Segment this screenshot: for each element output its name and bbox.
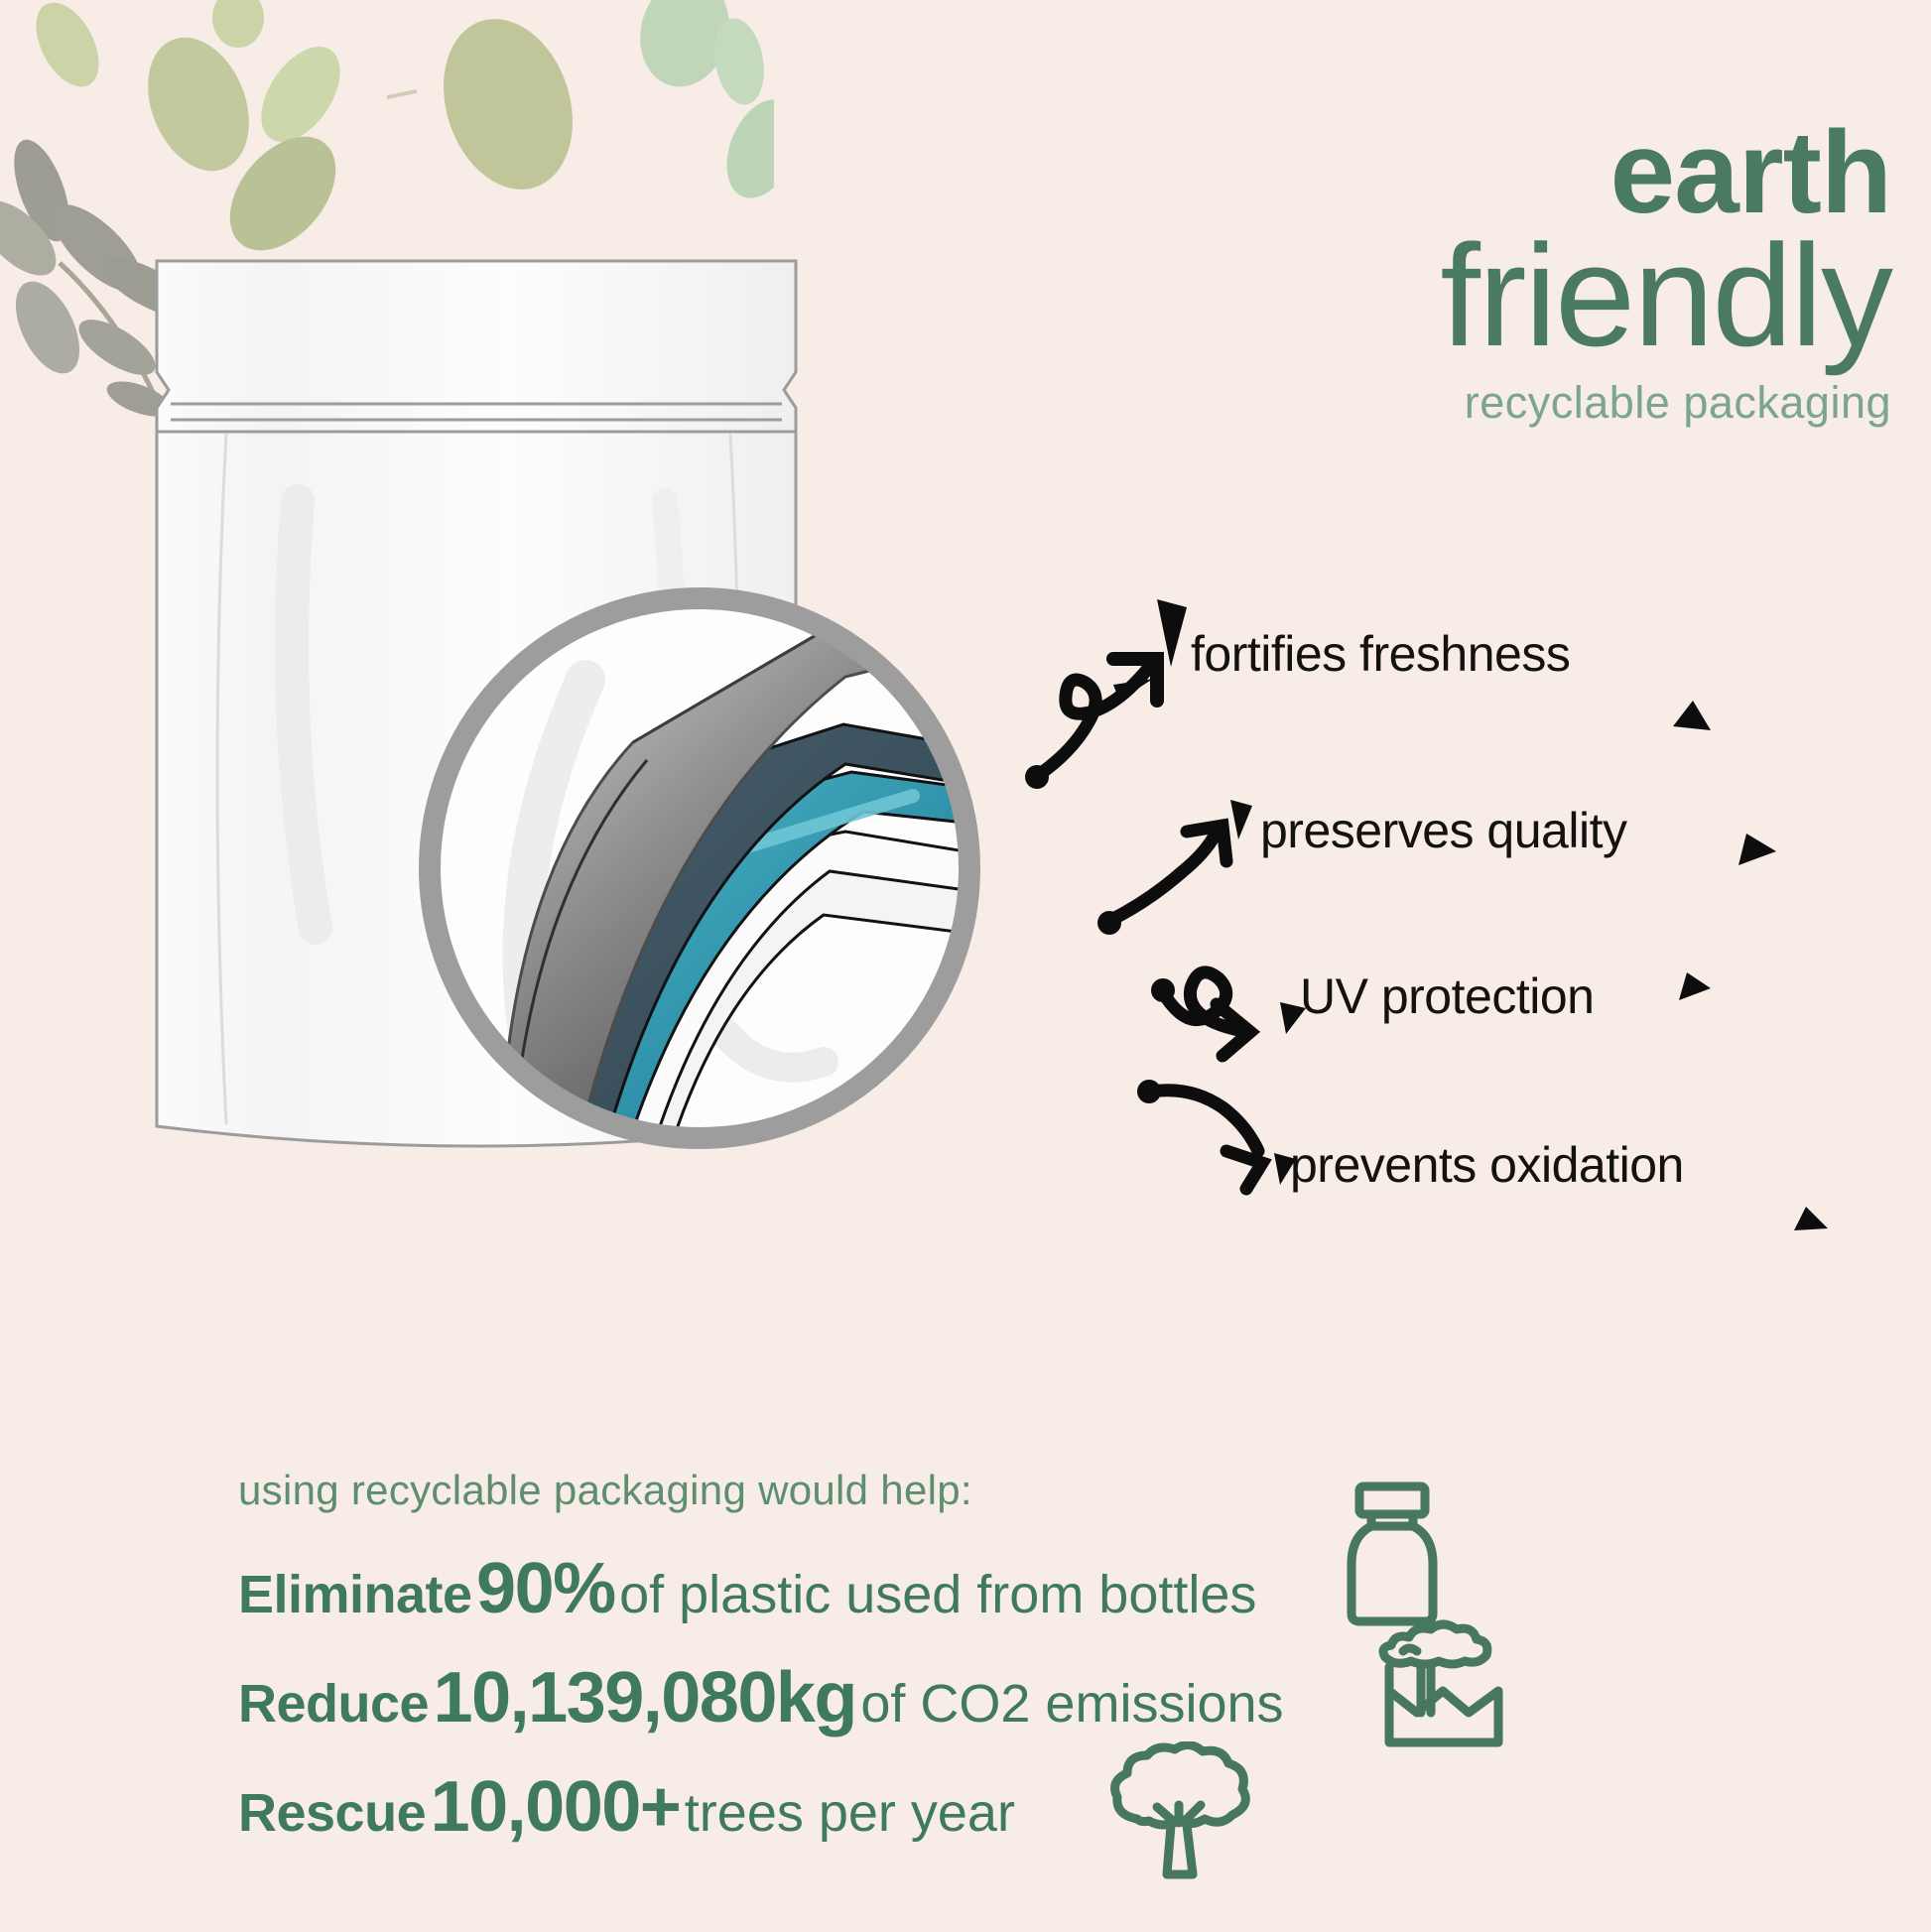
factory-icon: [1369, 1617, 1518, 1756]
factory-smoke-puff: [1403, 1648, 1417, 1651]
leaf-icon: [245, 33, 356, 156]
headline-line-friendly: friendly: [919, 227, 1891, 363]
callout-anchor-dot: [1097, 911, 1121, 935]
leaf-icon: [208, 116, 356, 270]
callout-anchor-dot: [1025, 765, 1049, 789]
sparkle-icon: [1113, 679, 1153, 701]
leaf-icon: [23, 0, 111, 97]
leaf-stem: [387, 91, 417, 97]
looped-arrow-head: [1217, 1004, 1250, 1056]
bottle-body: [1352, 1526, 1433, 1621]
tree-icon: [1101, 1741, 1260, 1890]
bottle-icon: [1330, 1479, 1459, 1627]
feature-label-fortifies-freshness: fortifies freshness: [1191, 625, 1570, 683]
page-title-block: earth friendly recyclable packaging: [919, 119, 1891, 429]
curly-arrow-head: [1113, 659, 1157, 701]
looped-arrow-icon: [1163, 972, 1238, 1030]
stat-verb: Eliminate: [238, 1565, 472, 1624]
pouch-top-panel: [157, 261, 796, 432]
curved-arrow-head: [1187, 826, 1226, 861]
bottle-cap: [1359, 1486, 1425, 1514]
feature-label-preserves-quality: preserves quality: [1260, 802, 1626, 859]
leaf-icon: [713, 89, 774, 208]
infographic-canvas: earth friendly recyclable packaging: [0, 0, 1931, 1932]
callout-anchor-dot: [1151, 978, 1175, 1002]
magnified-layer-detail: [397, 566, 1002, 1171]
sparkle-icon: [1230, 800, 1252, 839]
stat-description: trees per year: [685, 1783, 1015, 1843]
sparkle-icon: [1157, 599, 1187, 667]
stat-verb: Reduce: [238, 1674, 429, 1734]
headline-line-earth: earth: [919, 119, 1891, 227]
sparkle-icon: [1738, 834, 1776, 865]
leaf-icon: [708, 15, 771, 109]
factory-smoke: [1383, 1624, 1487, 1664]
leaf-icon: [129, 22, 268, 186]
curved-arrow-icon: [1151, 1091, 1258, 1151]
headline-subtitle: recyclable packaging: [919, 377, 1891, 429]
curly-arrow-icon: [1040, 665, 1151, 774]
stat-row: Rescue 10,000+ trees per year: [238, 1766, 1627, 1848]
leaf-icon: [212, 0, 264, 48]
feature-label-uv-protection: UV protection: [1300, 967, 1594, 1025]
curved-arrow-icon: [1109, 836, 1215, 921]
stat-description: of CO2 emissions: [860, 1674, 1283, 1734]
stat-description: of plastic used from bottles: [619, 1565, 1256, 1624]
factory-building: [1389, 1691, 1498, 1742]
sparkle-icon: [1679, 972, 1711, 1000]
leaf-icon: [423, 2, 593, 206]
sparkle-icon: [1794, 1207, 1828, 1230]
sparkle-icon: [1673, 701, 1711, 730]
leaf-icon: [629, 0, 740, 96]
stat-number: 90%: [476, 1549, 615, 1628]
stat-number: 10,139,080kg: [434, 1658, 856, 1738]
stat-number: 10,000+: [431, 1767, 681, 1847]
tree-trunk: [1167, 1825, 1193, 1874]
callout-anchor-dot: [1137, 1080, 1161, 1103]
feature-label-prevents-oxidation: prevents oxidation: [1290, 1136, 1684, 1194]
stat-verb: Rescue: [238, 1783, 426, 1843]
curved-arrow-head: [1226, 1151, 1262, 1189]
